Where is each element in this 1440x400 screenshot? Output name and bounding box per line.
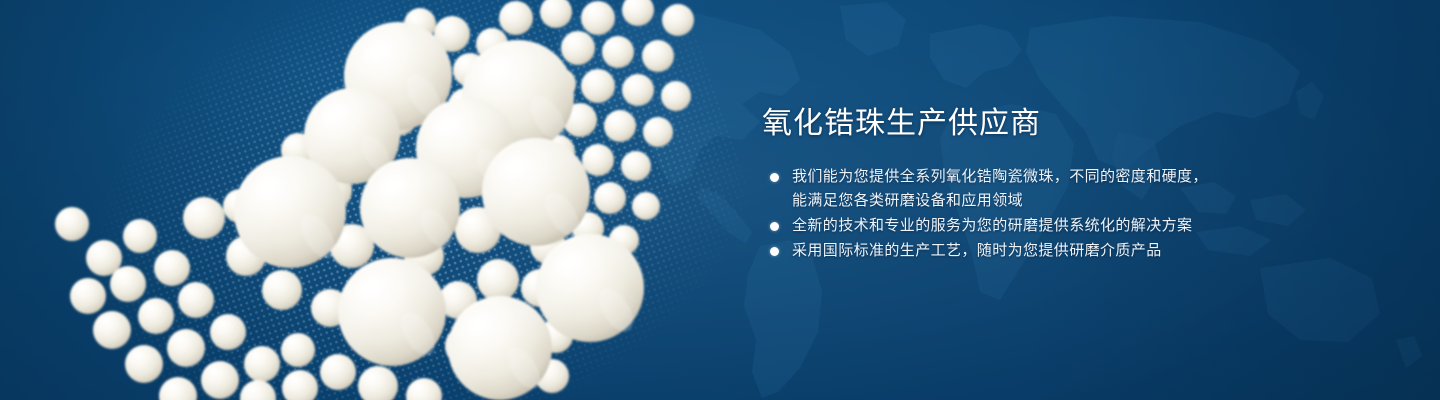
list-item: 我们能为您提供全系列氧化锆陶瓷微珠，不同的密度和硬度， 能满足您各类研磨设备和应… [762,165,1302,213]
hero-banner: 氧化锆珠生产供应商 我们能为您提供全系列氧化锆陶瓷微珠，不同的密度和硬度， 能满… [0,0,1440,400]
list-item-line: 能满足您各类研磨设备和应用领域 [792,189,1302,213]
bullet-dot-icon [770,173,779,182]
list-item-line: 我们能为您提供全系列氧化锆陶瓷微珠，不同的密度和硬度， [792,165,1302,189]
bullet-dot-icon [770,247,779,256]
banner-content: 氧化锆珠生产供应商 我们能为您提供全系列氧化锆陶瓷微珠，不同的密度和硬度， 能满… [762,105,1302,264]
page-title: 氧化锆珠生产供应商 [762,105,1302,143]
list-item-line: 全新的技术和专业的服务为您的研磨提供系统化的解决方案 [792,214,1302,238]
list-item: 采用国际标准的生产工艺，随时为您提供研磨介质产品 [762,239,1302,263]
feature-list: 我们能为您提供全系列氧化锆陶瓷微珠，不同的密度和硬度， 能满足您各类研磨设备和应… [762,165,1302,263]
bullet-dot-icon [770,222,779,231]
zirconia-beads-image [0,0,760,400]
list-item-line: 采用国际标准的生产工艺，随时为您提供研磨介质产品 [792,239,1302,263]
list-item: 全新的技术和专业的服务为您的研磨提供系统化的解决方案 [762,214,1302,238]
